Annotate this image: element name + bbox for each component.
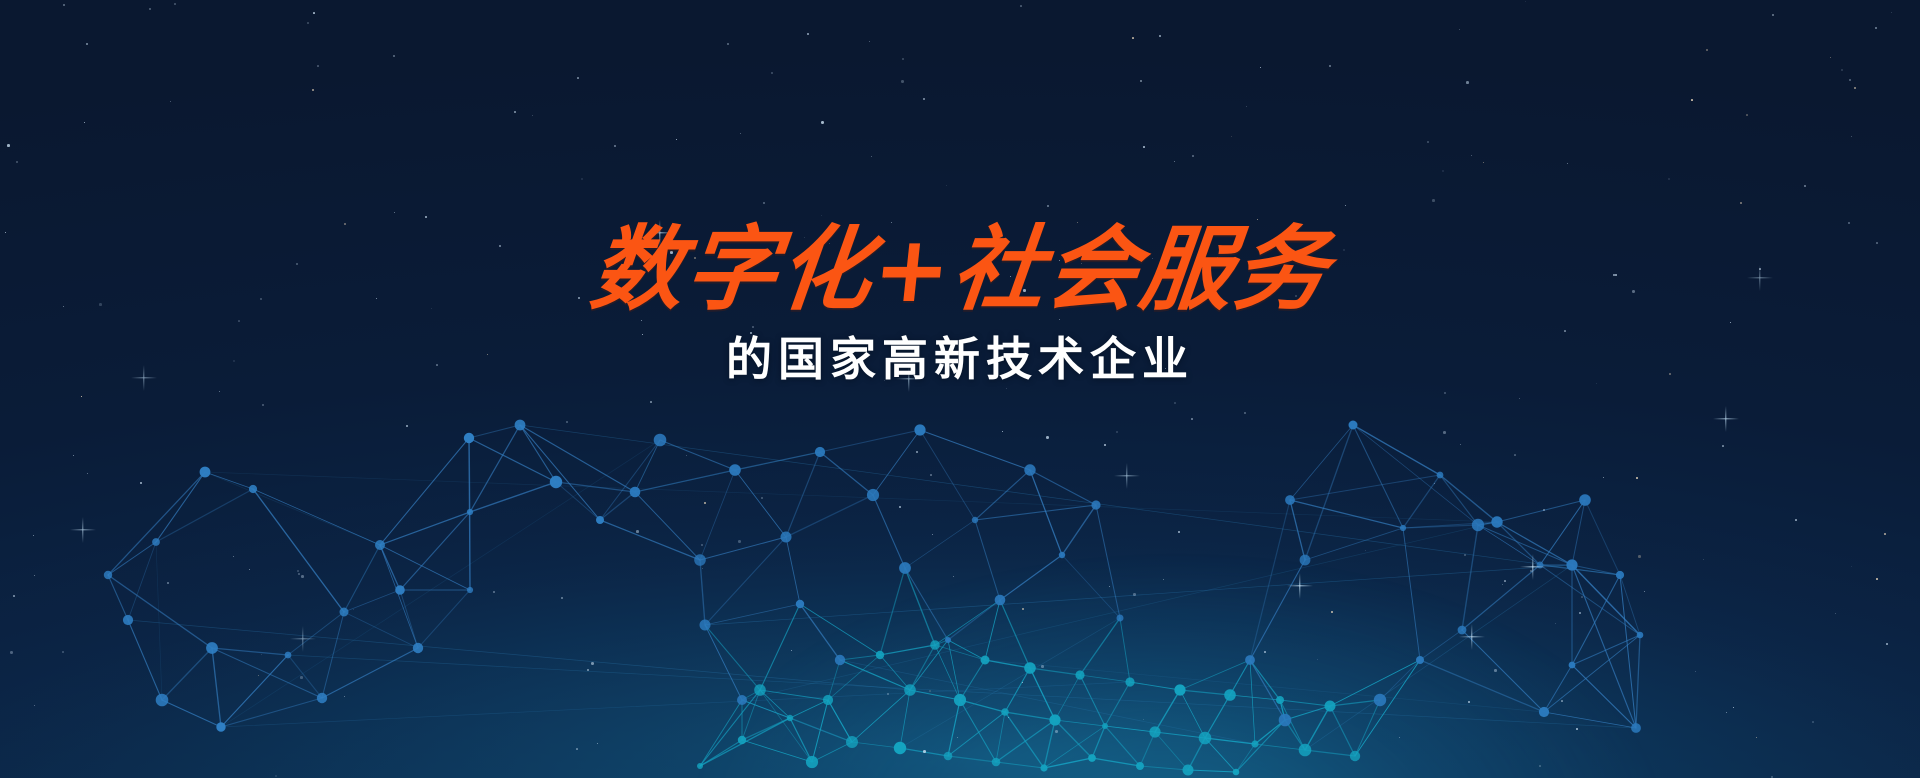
star-dot [63,4,65,6]
star-dot [1854,87,1856,89]
star-dot [219,391,220,392]
star-dot [1733,707,1734,708]
star-dot [1576,728,1578,730]
star-dot [1345,205,1346,206]
star-dot [1041,665,1044,668]
star-dot [1519,398,1520,399]
star-dot [957,737,958,738]
star-dot [1884,533,1886,535]
star-dot [702,568,703,569]
star-dot [406,425,408,427]
star-dot [1046,436,1049,439]
star-dot [1504,580,1506,582]
page-subtitle: 的国家高新技术企业 [0,332,1920,387]
star-dot [1459,29,1460,30]
star-dot [1695,671,1696,672]
starfield [0,0,1920,778]
star-dot [34,575,35,576]
star-dot [1317,659,1318,660]
star-dot [174,3,176,5]
star-dot [1691,99,1693,101]
star-dot [81,396,82,397]
star-dot [1260,67,1261,68]
mesh-edges [108,425,1640,772]
star-dot [929,690,931,692]
star-dot [1567,163,1568,164]
star-dot [1812,721,1814,723]
star-dot [1722,445,1724,447]
star-dot [819,747,820,748]
star-dot [887,693,889,695]
star-dot [1143,146,1145,148]
star-dot [587,669,589,671]
star-dot [930,474,932,476]
star-dot [899,506,901,508]
star-dot [591,662,594,665]
star-dot [84,122,85,123]
star-dot [1636,477,1638,479]
star-dot [1133,593,1136,596]
star-dot [1579,612,1581,614]
star-dot [932,534,933,535]
star-dot [1726,712,1727,713]
star-dot [1055,730,1058,733]
star-dot [1116,431,1118,433]
star-dot [1703,559,1704,560]
star-dot [1886,643,1888,645]
star-dot [532,115,533,116]
star-dot [249,569,250,570]
star-dot [87,473,88,474]
star-dot [7,144,10,147]
star-dot [946,185,947,186]
star-dot [1756,737,1757,738]
star-dot [1022,608,1024,610]
star-dot [1192,155,1194,157]
star-dot [261,654,262,655]
star-dot [953,576,954,577]
page-title: 数字化+社会服务 [0,222,1920,318]
star-dot [1244,412,1246,414]
star-sparkle [1125,474,1128,477]
star-dot [394,212,395,213]
star-sparkle [1298,584,1301,587]
mesh-nodes [104,420,1643,776]
network-mesh-graphic [0,0,1920,778]
star-dot [1668,178,1670,180]
star-dot [1795,519,1797,521]
star-dot [425,216,427,218]
star-dot [1638,555,1641,558]
star-dot [275,775,277,777]
star-dot [1020,5,1022,7]
star-dot [312,89,314,91]
star-dot [871,156,872,157]
star-dot [614,145,616,147]
star-dot [581,178,583,180]
star-dot [1444,392,1446,394]
star-dot [1543,509,1545,511]
star-dot [1174,402,1176,404]
star-dot [1525,1,1526,2]
star-dot [1830,57,1831,58]
star-dot [33,535,34,536]
star-dot [704,502,706,504]
star-dot [1514,454,1516,456]
star-dot [313,12,315,14]
star-dot [1851,566,1852,567]
star-dot [676,139,677,140]
star-dot [761,497,763,499]
star-dot [1502,584,1503,585]
star-dot [1841,69,1843,71]
star-dot [344,696,345,697]
star-dot [576,748,578,750]
star-dot [1740,202,1742,204]
star-dot [393,55,395,57]
star-dot [353,609,354,610]
star-dot [650,401,652,403]
star-sparkle [81,528,84,531]
star-dot [297,570,299,572]
star-dot [771,72,773,74]
star-dot [1178,531,1180,533]
star-dot [16,161,18,163]
star-dot [1464,554,1466,556]
star-dot [916,451,918,453]
star-dot [1772,14,1774,16]
star-dot [1804,185,1806,187]
star-dot [167,582,169,584]
star-dot [1581,596,1583,598]
star-sparkle [1470,635,1473,638]
star-dot [740,133,741,134]
star-dot [1442,170,1444,172]
star-dot [1561,700,1563,702]
star-dot [86,43,88,45]
star-dot [300,676,303,679]
star-dot [1163,579,1164,580]
star-dot [923,750,926,753]
star-dot [902,58,904,60]
star-dot [1434,483,1435,484]
star-dot [1008,717,1009,718]
star-dot [1851,136,1852,137]
star-dot [493,591,495,593]
star-dot [701,544,703,546]
star-dot [686,455,687,456]
star-dot [1539,765,1541,767]
star-dot [1468,701,1470,703]
star-dot [738,540,741,543]
star-sparkle [1724,417,1727,420]
star-dot [149,8,151,10]
star-dot [170,101,171,102]
star-dot [1460,444,1461,445]
star-dot [1104,444,1106,446]
star-dot [1399,737,1400,738]
star-dot [1443,431,1446,434]
star-dot [1427,141,1429,143]
star-dot [13,595,15,597]
star-dot [1746,114,1748,116]
star-dot [1876,578,1878,580]
star-dot [923,98,925,100]
star-dot [1174,161,1175,162]
star-dot [233,556,234,557]
star-dot [1365,550,1366,551]
star-dot [262,404,264,406]
star-dot [317,65,319,67]
star-dot [1246,106,1247,107]
star-dot [34,705,35,706]
star-dot [1191,418,1193,420]
star-dot [727,43,729,45]
star-dot [301,575,304,578]
star-dot [1264,651,1266,653]
star-dot [1432,199,1435,202]
star-dot [514,111,516,113]
star-dot [1875,27,1877,29]
star-dot [1849,79,1851,81]
star-dot [1530,570,1532,572]
star-dot [298,573,300,575]
star-dot [1466,81,1469,84]
star-dot [1835,613,1836,614]
star-dot [1494,669,1497,672]
star-dot [1143,719,1144,720]
star-dot [1022,682,1023,683]
hero-banner: 数字化+社会服务 的国家高新技术企业 [0,0,1920,778]
star-dot [566,421,568,423]
star-dot [73,455,74,456]
star-dot [1002,431,1003,432]
star-dot [561,597,563,599]
star-dot [1159,35,1161,37]
star-dot [791,650,792,651]
star-dot [62,651,64,653]
star-dot [1603,477,1604,478]
star-sparkle [1531,565,1534,568]
star-dot [901,80,904,83]
star-dot [636,530,639,533]
star-dot [1231,136,1232,137]
star-dot [763,202,765,204]
star-dot [1483,162,1484,163]
star-sparkle [301,637,304,640]
star-dot [1109,586,1110,587]
star-dot [869,41,870,42]
star-dot [1006,388,1007,389]
star-dot [140,482,142,484]
star-dot [1555,623,1556,624]
star-dot [1331,611,1333,613]
star-dot [807,33,809,35]
star-dot [1471,155,1472,156]
star-dot [1644,591,1645,592]
star-dot [307,22,309,24]
star-dot [597,743,598,744]
star-dot [1132,37,1134,39]
star-dot [577,77,579,79]
ridge-glow [538,378,1767,778]
star-dot [258,675,259,676]
star-dot [1329,65,1331,67]
star-dot [1140,80,1142,82]
star-dot [1047,205,1049,207]
hero-text-block: 数字化+社会服务 的国家高新技术企业 [0,222,1920,387]
star-dot [1706,49,1708,51]
star-dot [10,651,13,654]
star-dot [1891,12,1892,13]
star-dot [821,121,824,124]
